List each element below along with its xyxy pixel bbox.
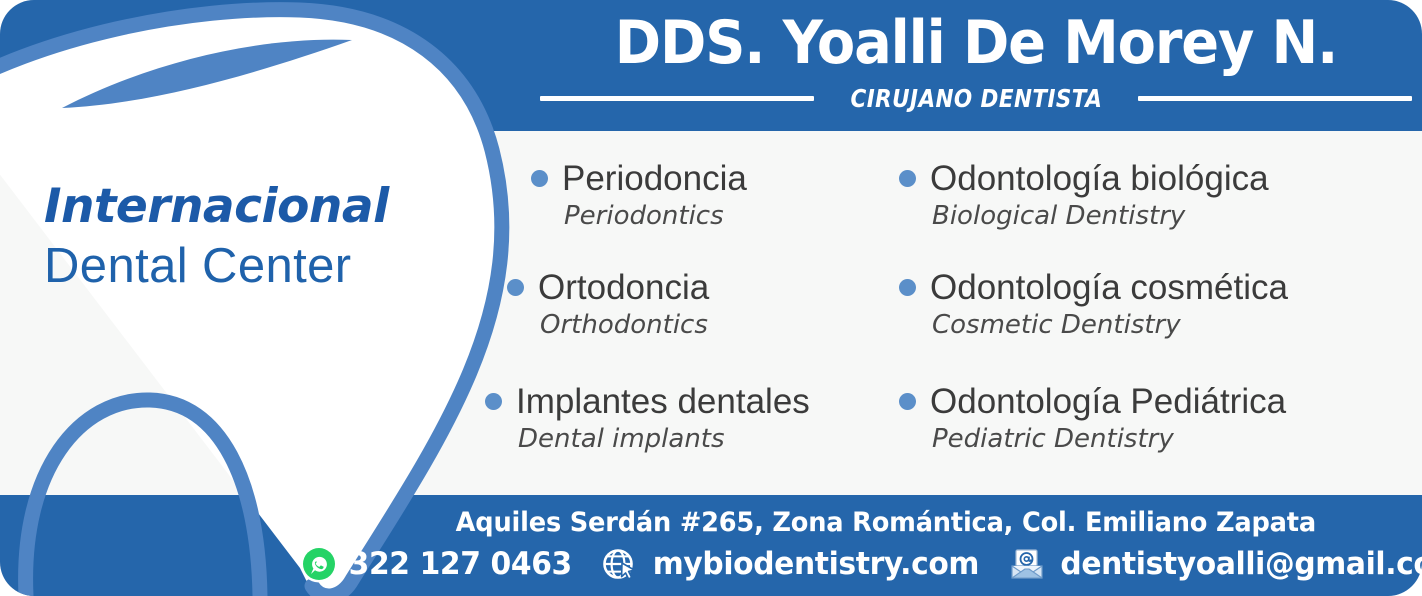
subtitle-row: CIRUJANO DENTISTA [540, 84, 1412, 113]
logo-block: Internacional Dental Center [44, 178, 444, 296]
email-envelope-icon[interactable] [1007, 544, 1047, 584]
contact-row: 322 127 0463 mybiodentistry.com [299, 544, 1422, 584]
service-item-ortodoncia: Ortodoncia Orthodontics [507, 267, 709, 341]
bullet-icon [899, 170, 916, 187]
address-text: Aquiles Serdán #265, Zona Romántica, Col… [456, 507, 1316, 538]
website-url[interactable]: mybiodentistry.com [652, 546, 978, 582]
contact-website[interactable]: mybiodentistry.com [599, 544, 986, 584]
service-item-implantes-dentales: Implantes dentales Dental implants [485, 381, 810, 455]
contact-email[interactable]: dentistyoalli@gmail.com [1007, 544, 1422, 584]
rule-right [1138, 96, 1412, 101]
bullet-icon [485, 393, 502, 410]
email-address[interactable]: dentistyoalli@gmail.com [1061, 546, 1422, 582]
service-name-en: Pediatric Dentistry [932, 423, 1286, 455]
service-name-es: Odontología cosmética [930, 267, 1288, 308]
footer-content: Aquiles Serdán #265, Zona Romántica, Col… [350, 495, 1422, 596]
service-name-en: Periodontics [564, 200, 747, 232]
bullet-icon [899, 393, 916, 410]
contact-whatsapp[interactable]: 322 127 0463 [299, 544, 576, 584]
service-name-es: Odontología biológica [930, 158, 1269, 199]
globe-cursor-icon[interactable] [599, 544, 641, 584]
service-name-es: Implantes dentales [516, 381, 810, 422]
logo-line-dental-center: Dental Center [44, 236, 444, 296]
phone-number[interactable]: 322 127 0463 [349, 546, 572, 582]
services-list: Periodoncia Periodontics Ortodoncia Orth… [485, 150, 1395, 480]
service-name-es: Odontología Pediátrica [930, 381, 1286, 422]
service-name-en: Dental implants [518, 423, 810, 455]
bullet-icon [507, 279, 524, 296]
service-item-periodoncia: Periodoncia Periodontics [531, 158, 747, 232]
service-name-es: Periodoncia [562, 158, 747, 199]
service-name-en: Biological Dentistry [932, 200, 1269, 232]
bullet-icon [531, 170, 548, 187]
business-card: DDS. Yoalli De Morey N. CIRUJANO DENTIST… [0, 0, 1422, 596]
bullet-icon [899, 279, 916, 296]
service-name-en: Cosmetic Dentistry [932, 309, 1288, 341]
header-text-block: DDS. Yoalli De Morey N. CIRUJANO DENTIST… [540, 4, 1412, 113]
profession-subtitle: CIRUJANO DENTISTA [850, 84, 1102, 113]
doctor-name: DDS. Yoalli De Morey N. [571, 4, 1382, 82]
service-name-es: Ortodoncia [538, 267, 709, 308]
rule-left [540, 96, 814, 101]
service-item-odontologia-biologica: Odontología biológica Biological Dentist… [899, 158, 1269, 232]
service-item-odontologia-cosmetica: Odontología cosmética Cosmetic Dentistry [899, 267, 1288, 341]
logo-line-internacional: Internacional [44, 178, 444, 236]
service-name-en: Orthodontics [540, 309, 709, 341]
service-item-odontologia-pediatrica: Odontología Pediátrica Pediatric Dentist… [899, 381, 1286, 455]
whatsapp-icon[interactable] [299, 544, 339, 584]
